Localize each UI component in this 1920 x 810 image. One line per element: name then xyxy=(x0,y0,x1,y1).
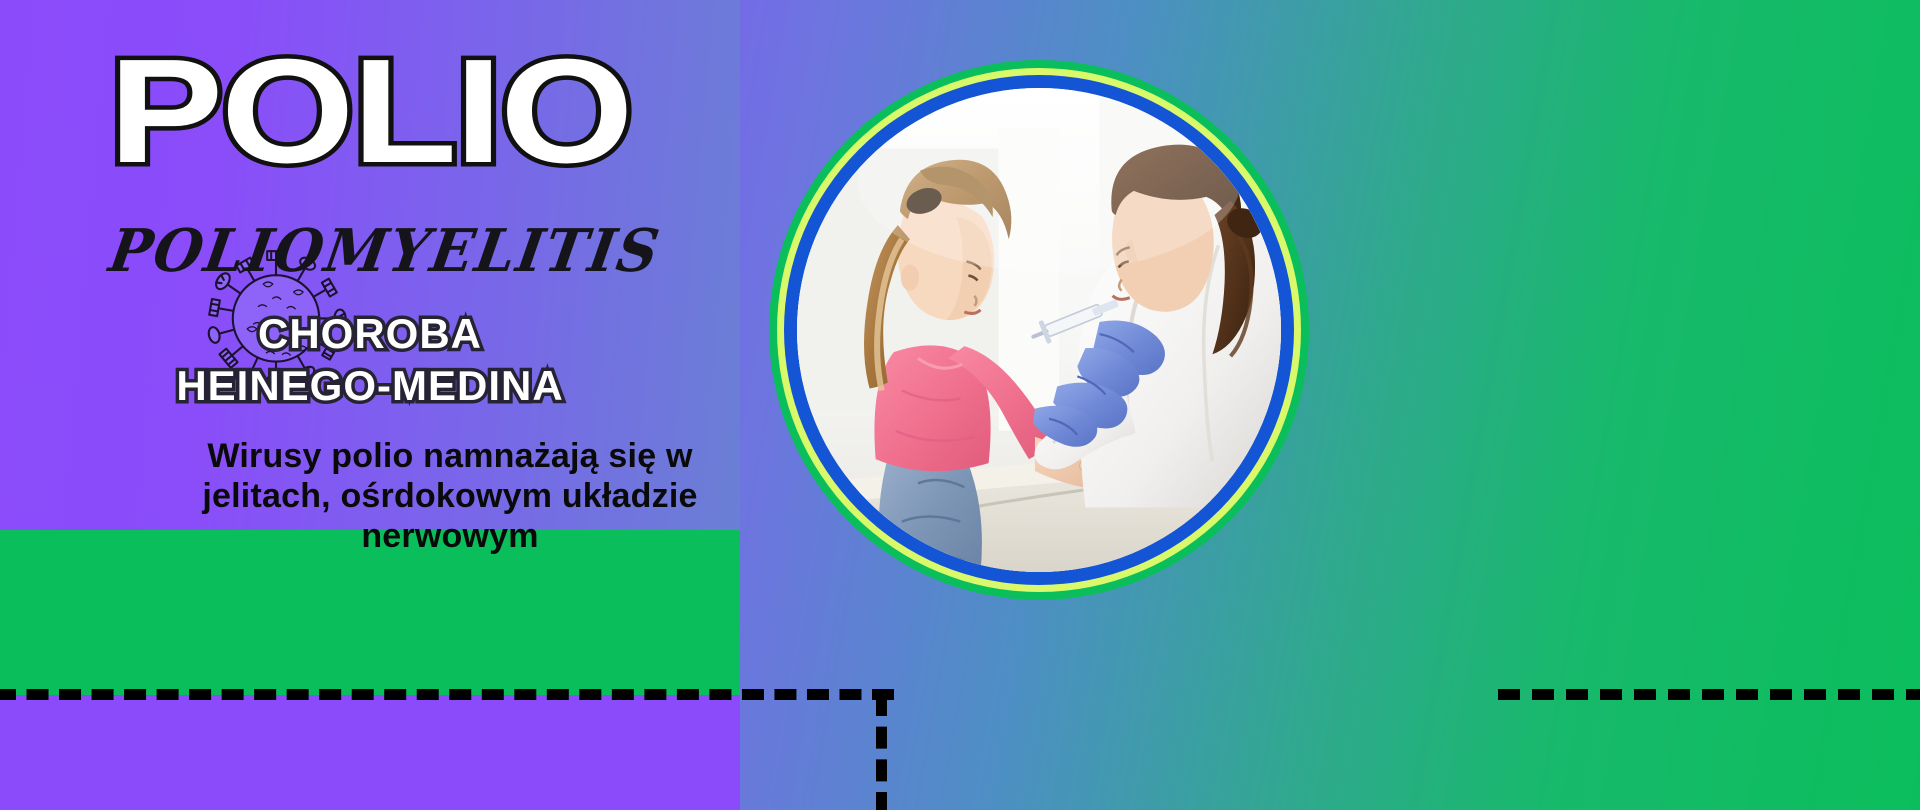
vaccination-photo xyxy=(797,88,1281,572)
dashed-rule-vertical xyxy=(876,694,887,810)
photo-ring-blue xyxy=(784,75,1294,585)
photo-ring-lime xyxy=(777,68,1301,592)
dashed-rule-horizontal-left xyxy=(0,689,894,700)
dashed-rule-horizontal-right xyxy=(1498,689,1920,700)
body-paragraph: Wirusy polio namnażają się w jelitach, o… xyxy=(160,437,740,556)
poster-canvas: POLIO POLIOMYELITIS CHOROBA HEINEGO-MEDI… xyxy=(0,0,1920,810)
purple-band-bottom-left xyxy=(0,695,740,810)
script-subtitle: POLIOMYELITIS xyxy=(25,216,746,285)
photo-circle-frame xyxy=(769,60,1309,600)
page-title: POLIO xyxy=(0,38,799,186)
subtitle-line-1: CHOROBA xyxy=(0,310,740,358)
subtitle-line-2: HEINEGO-MEDINA xyxy=(0,362,740,410)
